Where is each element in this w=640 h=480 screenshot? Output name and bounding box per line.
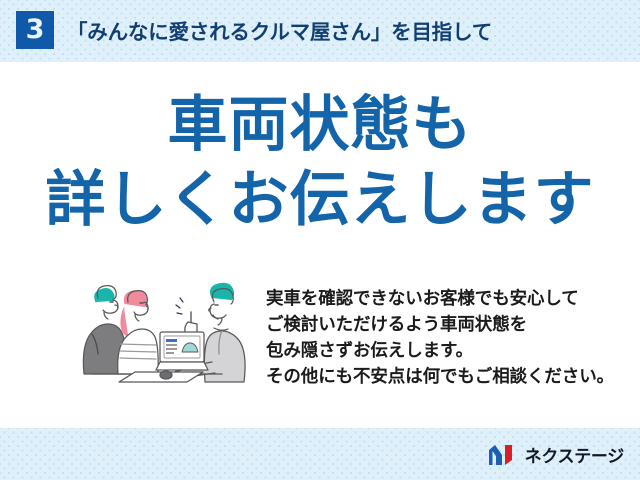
female-customer-hair-long bbox=[121, 308, 128, 335]
logo-red-stroke bbox=[505, 445, 512, 465]
male-customer-nose bbox=[115, 305, 118, 308]
laptop-keyboard-base bbox=[156, 362, 208, 370]
headline-block: 車両状態も 詳しくお伝えします bbox=[0, 88, 640, 238]
logo-blue-stroke bbox=[489, 445, 502, 465]
staff-collar bbox=[214, 328, 228, 330]
female-customer-nose bbox=[146, 306, 148, 309]
step-number-badge: 3 bbox=[16, 11, 54, 49]
header-content: 3 「みんなに愛されるクルマ屋さん」を目指して bbox=[16, 11, 492, 49]
laptop-content-bar-4 bbox=[166, 352, 174, 354]
headline-line-2: 詳しくお伝えします bbox=[0, 162, 640, 238]
idea-sparkle-icon bbox=[176, 298, 183, 314]
promo-slide: 3 「みんなに愛されるクルマ屋さん」を目指して 車両状態も 詳しくお伝えします bbox=[0, 0, 640, 480]
consultation-illustration-svg bbox=[62, 278, 252, 390]
body-copy-block: 実車を確認できないお客様でも安心して ご検討いただけるよう車両状態を 包み隠さず… bbox=[266, 285, 616, 389]
laptop-content-bar-2 bbox=[166, 344, 177, 346]
body-line-3: 包み隠さずお伝えします。 bbox=[266, 337, 616, 363]
header-band: 3 「みんなに愛されるクルマ屋さん」を目指して bbox=[0, 0, 640, 62]
body-line-1: 実車を確認できないお客様でも安心して bbox=[266, 285, 616, 311]
body-line-2: ご検討いただけるよう車両状態を bbox=[266, 311, 616, 337]
body-line-4: その他にも不安点は何でもご相談ください。 bbox=[266, 363, 616, 389]
nextage-n-logo-icon bbox=[488, 444, 518, 466]
staff-face bbox=[210, 304, 226, 318]
header-title: 「みんなに愛されるクルマ屋さん」を目指して bbox=[67, 15, 492, 45]
headline-line-1: 車両状態も bbox=[0, 88, 640, 162]
laptop-content-bar-1 bbox=[166, 339, 177, 342]
computer-mouse bbox=[160, 371, 172, 379]
brand-name: ネクステージ bbox=[525, 442, 624, 467]
laptop-content-bar-3 bbox=[166, 348, 177, 350]
brand-lockup: ネクステージ bbox=[488, 442, 624, 467]
consultation-illustration bbox=[62, 278, 252, 390]
footer-band: ネクステージ bbox=[0, 428, 640, 480]
